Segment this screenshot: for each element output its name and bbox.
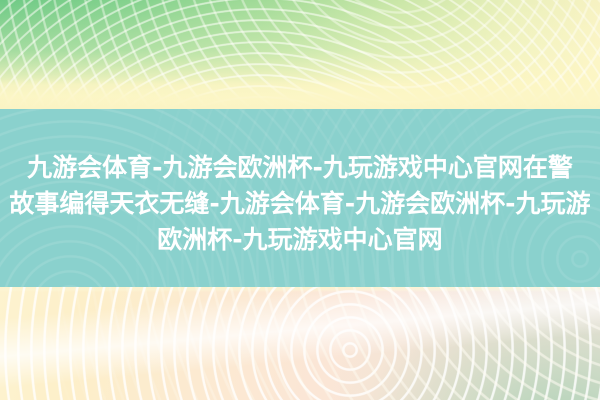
bottom-gradient-band (0, 287, 600, 400)
teal-content-band: 九游会体育-九游会欧洲杯-九玩游戏中心官网在警 故事编得天衣无缝-九游会体育-九… (0, 109, 600, 287)
top-band-fade (0, 79, 600, 109)
headline-line-3: 欧洲杯-九玩游戏中心官网 (0, 222, 600, 258)
top-gradient-band (0, 0, 600, 109)
banner-image: 九游会体育-九游会欧洲杯-九玩游戏中心官网在警 故事编得天衣无缝-九游会体育-九… (0, 0, 600, 400)
headline-text: 九游会体育-九游会欧洲杯-九玩游戏中心官网在警 故事编得天衣无缝-九游会体育-九… (0, 109, 600, 258)
headline-line-2: 故事编得天衣无缝-九游会体育-九游会欧洲杯-九玩游 (0, 186, 600, 222)
headline-line-1: 九游会体育-九游会欧洲杯-九玩游戏中心官网在警 (0, 150, 600, 186)
